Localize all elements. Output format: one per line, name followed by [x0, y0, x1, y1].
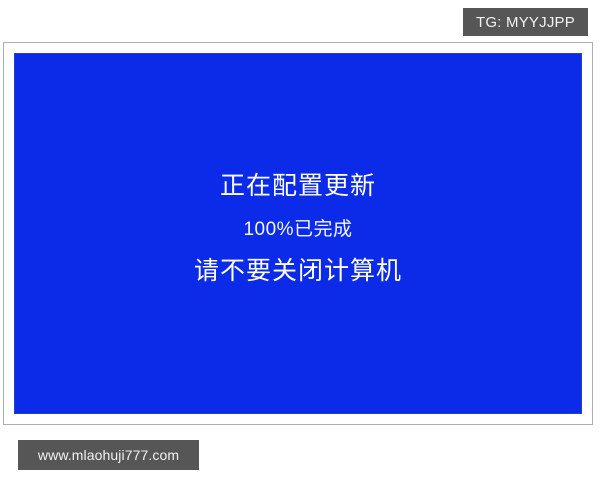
tg-channel-label: TG: MYYJJPP [476, 15, 575, 30]
site-watermark-label: www.mlaohuji777.com [38, 448, 179, 462]
screenshot-root: TG: MYYJJPP 正在配置更新 100%已完成 请不要关闭计算机 www.… [0, 0, 600, 480]
update-status-text: 正在配置更新 [220, 172, 376, 200]
tg-channel-badge: TG: MYYJJPP [463, 8, 588, 36]
windows-update-screen: 正在配置更新 100%已完成 请不要关闭计算机 [15, 54, 581, 413]
update-progress-text: 100%已完成 [243, 219, 352, 241]
monitor-frame: 正在配置更新 100%已完成 请不要关闭计算机 [3, 42, 593, 425]
update-warning-text: 请不要关闭计算机 [194, 257, 402, 285]
update-message-block: 正在配置更新 100%已完成 请不要关闭计算机 [15, 172, 581, 285]
site-watermark: www.mlaohuji777.com [18, 440, 199, 470]
monitor-screen-bezel: 正在配置更新 100%已完成 请不要关闭计算机 [14, 53, 582, 414]
